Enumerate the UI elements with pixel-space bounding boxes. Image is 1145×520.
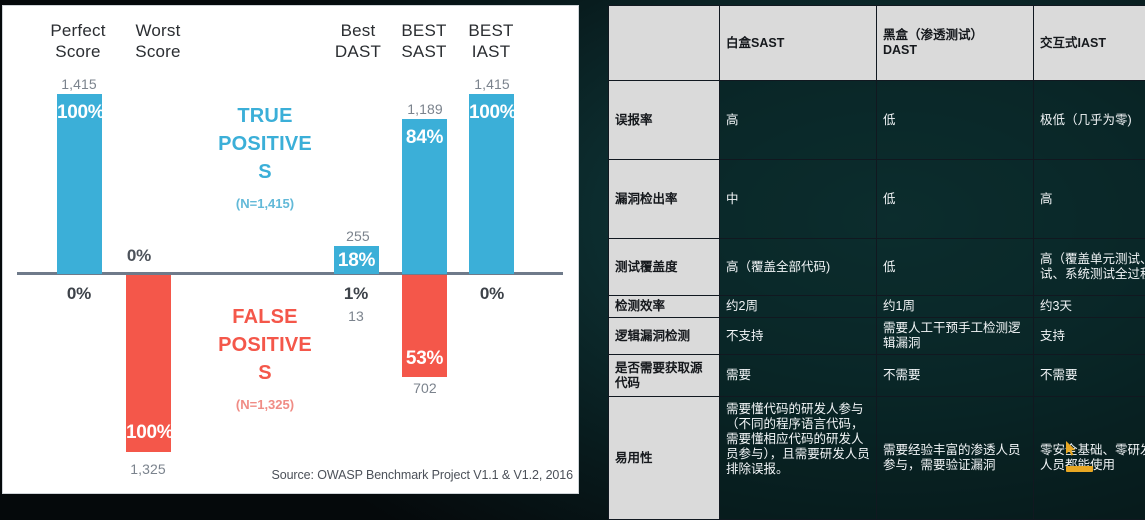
bar-axis-label-best-dast: 1% <box>316 284 396 304</box>
chart-column-header-best-iast: BEST IAST <box>453 20 529 62</box>
chart-column-header-perfect-score: Perfect Score <box>33 20 123 62</box>
row-label-ease-of-use: 易用性 <box>609 397 720 520</box>
row-label-false-positive-rate: 误报率 <box>609 81 720 160</box>
bar-label-best-iast: 100% <box>469 102 514 124</box>
header-line2: SAST <box>401 42 446 61</box>
true-positives-n: (N=1,415) <box>200 190 330 218</box>
table-row: 逻辑漏洞检测 不支持 需要人工干预手工检测逻辑漏洞 支持 <box>609 318 1145 355</box>
cell-source-code-required-sast: 需要 <box>720 355 877 397</box>
header-line1: Worst <box>135 21 180 40</box>
bar-zero-label-worst-score: 0% <box>98 246 180 266</box>
cell-test-coverage-iast: 高（覆盖单元测试、集成测试、系统测试全过程) <box>1034 239 1145 296</box>
sast-dast-iast-comparison-table: 白盒SAST 黑盒（渗透测试） DAST 交互式IAST 误报率 高 低 极低（… <box>608 5 1145 520</box>
table-header-sast: 白盒SAST <box>720 6 877 81</box>
bar-best-iast-positive: 100% <box>469 94 514 274</box>
bar-label-best-dast: 18% <box>334 250 379 272</box>
bar-axis-label-perfect-score: 0% <box>38 284 120 304</box>
bar-perfect-score-positive: 100% <box>57 94 102 274</box>
bar-best-sast-positive: 84% <box>402 119 447 274</box>
row-label-detection-efficiency: 检测效率 <box>609 296 720 318</box>
bar-axis-label-best-iast: 0% <box>450 284 534 304</box>
false-positives-annotation: FALSE POSITIVE S (N=1,325) <box>200 303 330 419</box>
row-label-source-code-required: 是否需要获取源代码 <box>609 355 720 397</box>
bar-count-best-sast-negative: 702 <box>383 380 467 396</box>
cell-ease-of-use-iast: 零安全基础、零研发基础的人员都能使用 <box>1034 397 1145 520</box>
false-positives-n: (N=1,325) <box>200 391 330 419</box>
bar-count-best-sast: 1,189 <box>383 101 467 117</box>
bar-count-perfect-score: 1,415 <box>38 76 120 92</box>
true-positives-line1: TRUE <box>200 102 330 130</box>
chart-column-header-best-dast: Best DAST <box>320 20 396 62</box>
cell-logic-flaw-detection-dast: 需要人工干预手工检测逻辑漏洞 <box>877 318 1034 355</box>
row-label-test-coverage: 测试覆盖度 <box>609 239 720 296</box>
bar-count-best-dast: 255 <box>318 228 398 244</box>
cell-logic-flaw-detection-iast: 支持 <box>1034 318 1145 355</box>
false-positives-line1: FALSE <box>200 303 330 331</box>
table-row: 易用性 需要懂代码的研发人参与（不同的程序语言代码，需要懂相应代码的研发人员参与… <box>609 397 1145 520</box>
cell-detection-rate-sast: 中 <box>720 160 877 239</box>
slide-background: Perfect Score Worst Score Best DAST BEST… <box>0 0 1145 520</box>
table-corner-cell <box>609 6 720 81</box>
bar-count-worst-score: 1,325 <box>107 461 189 477</box>
bar-label-worst-score: 100% <box>126 422 171 444</box>
table-header-dast-line1: 黑盒（渗透测试） <box>883 28 983 42</box>
cell-false-positive-rate-dast: 低 <box>877 81 1034 160</box>
cell-test-coverage-sast: 高（覆盖全部代码) <box>720 239 877 296</box>
header-line1: Perfect <box>50 21 105 40</box>
table-row: 检测效率 约2周 约1周 约3天 <box>609 296 1145 318</box>
cell-detection-efficiency-dast: 约1周 <box>877 296 1034 318</box>
header-line1: BEST <box>468 21 513 40</box>
table-row: 漏洞检出率 中 低 高 <box>609 160 1145 239</box>
cell-detection-rate-iast: 高 <box>1034 160 1145 239</box>
bar-count-best-dast-negative: 13 <box>316 308 396 324</box>
bar-best-sast-negative: 53% <box>402 275 447 377</box>
header-line2: Score <box>135 42 180 61</box>
header-line1: BEST <box>401 21 446 40</box>
laser-pointer-marker <box>1066 466 1093 472</box>
comparison-table-container: 白盒SAST 黑盒（渗透测试） DAST 交互式IAST 误报率 高 低 极低（… <box>608 5 1128 501</box>
cell-source-code-required-dast: 不需要 <box>877 355 1034 397</box>
row-label-detection-rate: 漏洞检出率 <box>609 160 720 239</box>
bar-best-dast-positive: 18% <box>334 246 379 274</box>
chart-column-header-best-sast: BEST SAST <box>386 20 462 62</box>
header-line2: IAST <box>472 42 511 61</box>
cell-detection-efficiency-iast: 约3天 <box>1034 296 1145 318</box>
row-label-logic-flaw-detection: 逻辑漏洞检测 <box>609 318 720 355</box>
cell-ease-of-use-dast: 需要经验丰富的渗透人员参与，需要验证漏洞 <box>877 397 1034 520</box>
table-header-row: 白盒SAST 黑盒（渗透测试） DAST 交互式IAST <box>609 6 1145 81</box>
table-header-iast: 交互式IAST <box>1034 6 1145 81</box>
table-row: 误报率 高 低 极低（几乎为零) <box>609 81 1145 160</box>
cell-detection-efficiency-sast: 约2周 <box>720 296 877 318</box>
false-positives-line3: S <box>200 359 330 387</box>
header-line2: Score <box>55 42 100 61</box>
table-header-dast-line2: DAST <box>883 43 917 57</box>
bar-label-best-sast: 84% <box>402 127 447 149</box>
cell-false-positive-rate-iast: 极低（几乎为零) <box>1034 81 1145 160</box>
false-positives-line2: POSITIVE <box>200 331 330 359</box>
bar-count-best-iast: 1,415 <box>450 76 534 92</box>
cell-detection-rate-dast: 低 <box>877 160 1034 239</box>
bar-worst-score-negative: 100% <box>126 275 171 452</box>
true-positives-line3: S <box>200 158 330 186</box>
table-row: 测试覆盖度 高（覆盖全部代码) 低 高（覆盖单元测试、集成测试、系统测试全过程) <box>609 239 1145 296</box>
cell-false-positive-rate-sast: 高 <box>720 81 877 160</box>
owasp-benchmark-chart: Perfect Score Worst Score Best DAST BEST… <box>3 6 578 493</box>
chart-source-note: Source: OWASP Benchmark Project V1.1 & V… <box>253 468 573 482</box>
cell-test-coverage-dast: 低 <box>877 239 1034 296</box>
true-positives-line2: POSITIVE <box>200 130 330 158</box>
cell-ease-of-use-sast: 需要懂代码的研发人参与（不同的程序语言代码，需要懂相应代码的研发人员参与），且需… <box>720 397 877 520</box>
table-row: 是否需要获取源代码 需要 不需要 不需要 <box>609 355 1145 397</box>
chart-column-header-worst-score: Worst Score <box>113 20 203 62</box>
true-positives-annotation: TRUE POSITIVE S (N=1,415) <box>200 102 330 218</box>
cell-source-code-required-iast: 不需要 <box>1034 355 1145 397</box>
header-line2: DAST <box>335 42 381 61</box>
cell-logic-flaw-detection-sast: 不支持 <box>720 318 877 355</box>
header-line1: Best <box>341 21 376 40</box>
bar-label-perfect-score: 100% <box>57 102 102 124</box>
table-header-dast: 黑盒（渗透测试） DAST <box>877 6 1034 81</box>
bar-label-best-sast-negative: 53% <box>402 348 447 370</box>
